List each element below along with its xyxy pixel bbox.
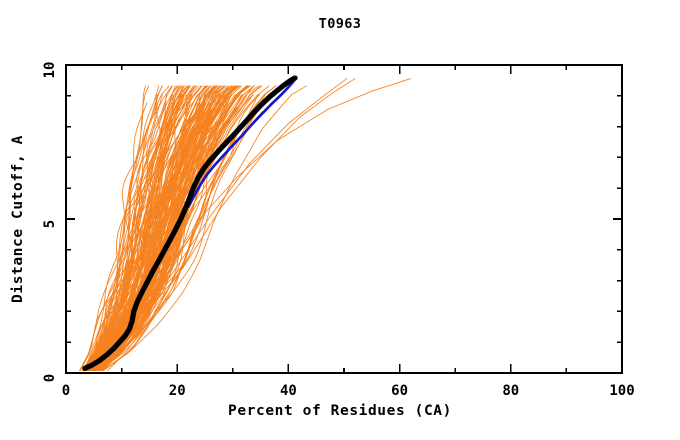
x-axis-tick-labels: 020406080100 <box>62 383 635 399</box>
y-tick-label: 0 <box>42 374 58 382</box>
x-tick-label: 60 <box>391 383 408 399</box>
x-tick-label: 20 <box>169 383 186 399</box>
chart-title: T0963 <box>319 16 362 32</box>
x-tick-label: 100 <box>609 383 634 399</box>
y-tick-label: 10 <box>42 62 58 79</box>
y-axis-title: Distance Cutoff, A <box>10 135 26 303</box>
y-axis-tick-labels: 0510 <box>42 62 58 383</box>
chart-container: T0963 020406080100 0510 Percent of Resid… <box>0 0 680 440</box>
x-tick-label: 0 <box>62 383 70 399</box>
x-axis-title: Percent of Residues (CA) <box>228 403 452 419</box>
chart-canvas: T0963 020406080100 0510 Percent of Resid… <box>0 0 680 440</box>
x-tick-label: 80 <box>502 383 519 399</box>
x-tick-label: 40 <box>280 383 297 399</box>
y-tick-label: 5 <box>42 220 58 228</box>
